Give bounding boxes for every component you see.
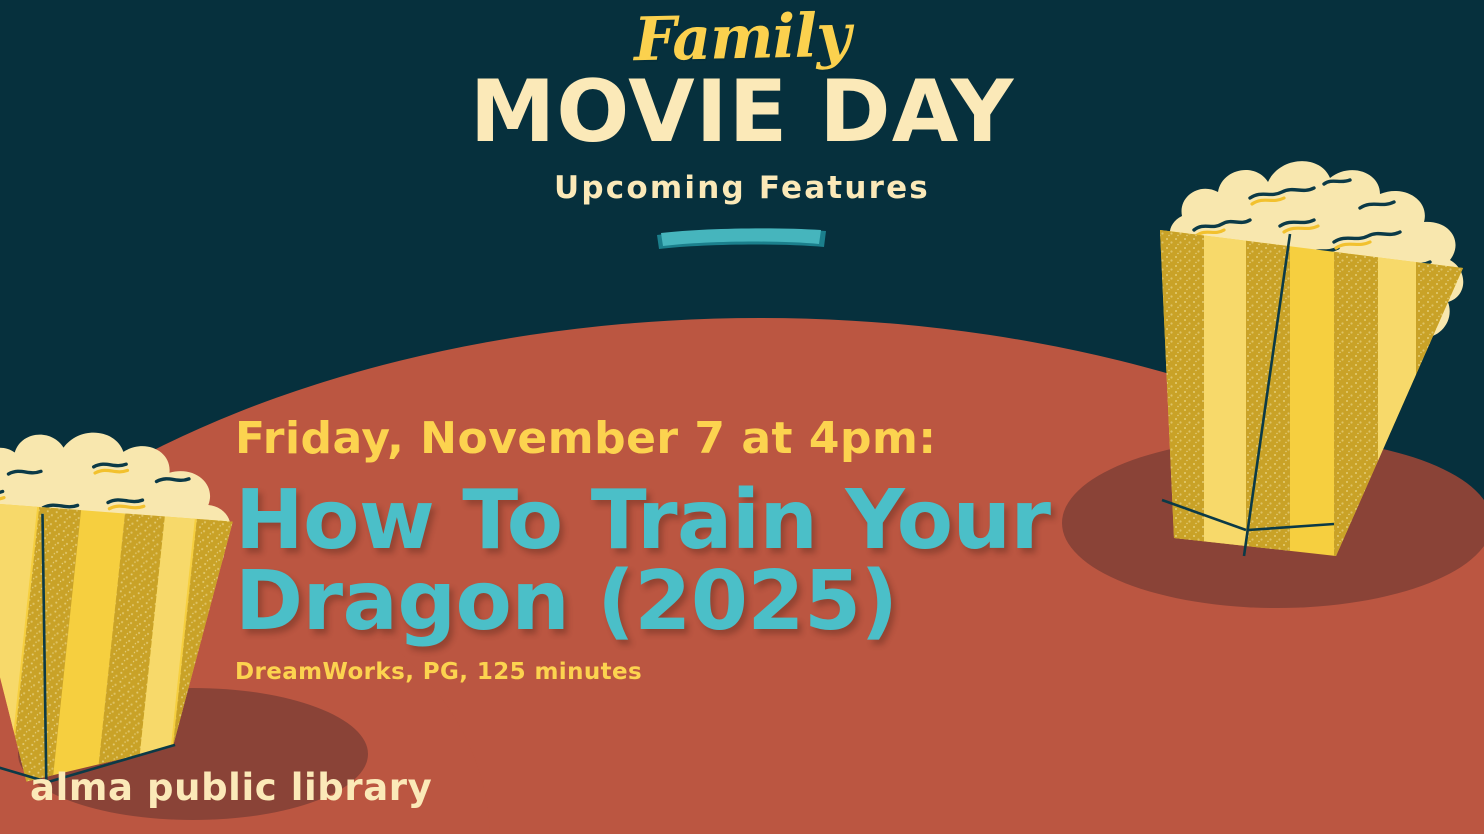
library-name: alma public library [30,766,432,809]
poster-canvas: Family MOVIE DAY Upcoming Features [0,0,1484,834]
page-title: MOVIE DAY [0,70,1484,154]
poster-header: Family MOVIE DAY Upcoming Features [0,0,1484,257]
subtitle: Upcoming Features [0,170,1484,206]
film-credits: DreamWorks, PG, 125 minutes [235,659,1155,685]
popcorn-cup-icon [0,462,270,814]
event-date: Friday, November 7 at 4pm: [235,416,1155,462]
film-title: How To Train Your Dragon (2025) [235,480,1135,642]
event-details: Friday, November 7 at 4pm: How To Train … [235,416,1155,685]
brushstroke-underline-icon [654,226,830,252]
